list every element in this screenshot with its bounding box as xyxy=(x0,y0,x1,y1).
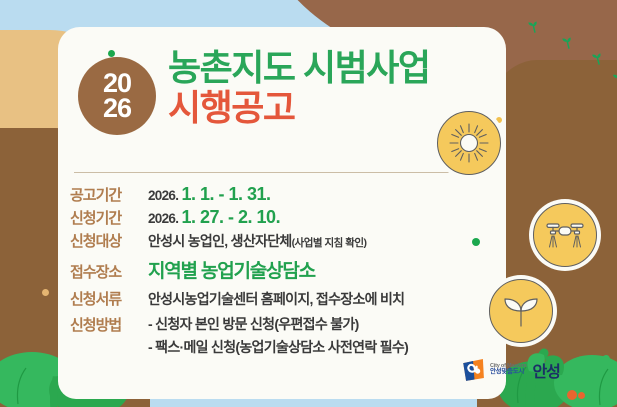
method-note: (우편접수 불가) xyxy=(274,316,358,332)
info-row-eligibility: 신청대상 안성시 농업인, 생산자단체(사업별 지침 확인) xyxy=(70,230,500,251)
info-row-notice-period: 공고기간 2026. 1. 1. - 1. 31. xyxy=(70,184,500,205)
drone-badge xyxy=(533,203,597,267)
decor-dot-tan xyxy=(42,289,49,296)
row-label: 신청서류 xyxy=(70,288,148,309)
decor-dot-green xyxy=(108,50,115,57)
method-text: - 팩스·메일 신청 xyxy=(148,339,235,355)
row-value: 안성시농업기술센터 홈페이지, 접수장소에 비치 xyxy=(148,289,404,309)
divider xyxy=(74,172,466,173)
logo-korean-big: 안성 xyxy=(532,358,559,382)
year-badge: 20 26 xyxy=(78,57,156,135)
page-title: 농촌지도 시범사업 시행공고 xyxy=(168,49,498,128)
row-year: 2026. xyxy=(148,188,178,203)
row-label: 공고기간 xyxy=(70,184,148,205)
method-line: - 신청자 본인 방문 신청(우편접수 불가) xyxy=(148,314,408,334)
method-line: - 팩스·메일 신청(농업기술상담소 사전연락 필수) xyxy=(148,337,408,357)
row-note: (사업별 지침 확인) xyxy=(292,237,367,249)
row-value: 안성시 농업인, 생산자단체(사업별 지침 확인) xyxy=(148,231,367,251)
row-label: 신청기간 xyxy=(70,207,148,228)
method-text: - 신청자 본인 방문 신청 xyxy=(148,316,274,332)
sun-badge xyxy=(437,111,501,175)
row-value: 2026. 1. 1. - 1. 31. xyxy=(148,184,271,205)
row-text: 안성시농업기술센터 홈페이지, 접수장소에 비치 xyxy=(148,291,404,307)
anseong-emblem-icon xyxy=(461,357,487,383)
sprout-icon xyxy=(527,19,541,34)
row-label: 신청방법 xyxy=(70,314,148,335)
drone-icon xyxy=(542,213,588,257)
info-row-method: 신청방법 - 신청자 본인 방문 신청(우편접수 불가) - 팩스·메일 신청(… xyxy=(70,314,500,357)
row-value: 지역별 농업기술상담소 xyxy=(148,256,315,283)
row-date: 1. 1. - 1. 31. xyxy=(182,184,271,204)
year-badge-bottom: 26 xyxy=(103,96,131,121)
row-year: 2026. xyxy=(148,211,178,226)
sun-icon xyxy=(446,120,492,166)
row-text: 지역별 농업기술상담소 xyxy=(148,261,315,282)
city-logo: City of Masters 안성맞춤도시 안성 xyxy=(462,358,560,382)
sprout-badge xyxy=(489,279,553,343)
row-label: 접수장소 xyxy=(70,261,148,282)
info-list: 공고기간 2026. 1. 1. - 1. 31. 신청기간 2026. 1. … xyxy=(70,184,500,359)
info-row-documents: 신청서류 안성시농업기술센터 홈페이지, 접수장소에 비치 xyxy=(70,288,500,309)
sprout-icon xyxy=(561,35,575,50)
decor-dot-orange xyxy=(578,392,585,399)
logo-korean-small: 안성맞춤도시 xyxy=(490,369,526,376)
poster-root: 20 26 농촌지도 시범사업 시행공고 공고기간 2026. 1. 1. - … xyxy=(0,0,617,407)
info-row-application-period: 신청기간 2026. 1. 27. - 2. 10. xyxy=(70,207,500,228)
row-date: 1. 27. - 2. 10. xyxy=(182,207,281,227)
method-line-list: - 신청자 본인 방문 신청(우편접수 불가) - 팩스·메일 신청(농업기술상… xyxy=(148,314,408,357)
sprout-icon xyxy=(590,51,604,67)
row-text: 안성시 농업인, 생산자단체 xyxy=(148,233,292,249)
row-label: 신청대상 xyxy=(70,230,148,251)
logo-text-block: City of Masters 안성맞춤도시 xyxy=(490,364,526,377)
sprout-icon xyxy=(499,289,543,333)
method-note: (농업기술상담소 사전연락 필수) xyxy=(235,339,408,355)
title-line-1: 농촌지도 시범사업 xyxy=(168,49,498,88)
row-value: 2026. 1. 27. - 2. 10. xyxy=(148,207,280,228)
info-row-submission-place: 접수장소 지역별 농업기술상담소 xyxy=(70,256,500,283)
